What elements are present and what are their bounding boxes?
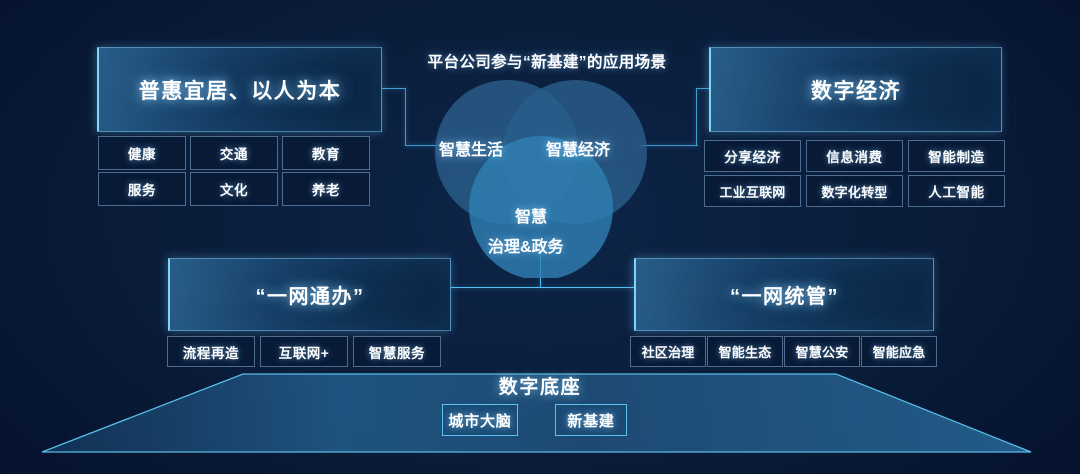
venn-label-smart-life: 智慧生活 xyxy=(439,136,503,160)
chip-right-mid-0[interactable]: 社区治理 xyxy=(630,336,706,367)
chip-left-top-1[interactable]: 交通 xyxy=(190,136,278,170)
chip-right-top-2[interactable]: 智能制造 xyxy=(908,140,1005,172)
chip-right-top-4[interactable]: 数字化转型 xyxy=(806,175,903,207)
chip-right-top-5[interactable]: 人工智能 xyxy=(908,175,1005,207)
chip-left-top-5[interactable]: 养老 xyxy=(282,172,370,206)
pillar-left-top-title: 普惠宜居、以人为本 xyxy=(139,75,342,105)
diagram-title: 平台公司参与“新基建”的应用场景 xyxy=(392,50,702,72)
pillar-right-mid-title: “一网统管” xyxy=(730,280,839,309)
chip-right-top-0[interactable]: 分享经济 xyxy=(704,140,801,172)
venn-diagram: 智慧生活 智慧经济 智慧 治理&政务 xyxy=(425,78,655,278)
chip-right-top-1[interactable]: 信息消费 xyxy=(806,140,903,172)
pillar-right-top-title: 数字经济 xyxy=(811,75,901,105)
chip-left-top-4[interactable]: 文化 xyxy=(190,172,278,206)
diagram-canvas: 平台公司参与“新基建”的应用场景 智慧生活 智慧经济 智慧 治理&政务 普惠宜居… xyxy=(0,0,1080,474)
connector-right-top-v xyxy=(696,88,697,146)
chip-left-top-0[interactable]: 健康 xyxy=(98,136,186,170)
pillar-left-top[interactable]: 普惠宜居、以人为本 xyxy=(97,47,382,132)
base-title: 数字底座 xyxy=(0,372,1080,399)
venn-label-smart-governance-line1: 智慧 xyxy=(515,203,547,227)
connector-mid-horizontal xyxy=(440,287,640,288)
chip-left-mid-2[interactable]: 智慧服务 xyxy=(353,336,441,367)
base-chip-0[interactable]: 城市大脑 xyxy=(442,404,518,436)
connector-left-top-v xyxy=(405,88,406,146)
chip-left-top-2[interactable]: 教育 xyxy=(282,136,370,170)
pillar-left-mid[interactable]: “一网通办” xyxy=(168,258,451,331)
venn-label-smart-governance-line2: 治理&政务 xyxy=(488,233,564,257)
chip-left-mid-0[interactable]: 流程再造 xyxy=(167,336,255,367)
pillar-right-mid[interactable]: “一网统管” xyxy=(634,258,934,331)
venn-label-smart-economy: 智慧经济 xyxy=(546,136,610,160)
chip-right-mid-1[interactable]: 智能生态 xyxy=(707,336,783,367)
chip-right-mid-2[interactable]: 智慧公安 xyxy=(784,336,860,367)
chip-left-top-3[interactable]: 服务 xyxy=(98,172,186,206)
chip-right-mid-3[interactable]: 智能应急 xyxy=(861,336,937,367)
connector-left-top-h1 xyxy=(382,88,406,89)
chip-right-top-3[interactable]: 工业互联网 xyxy=(704,175,801,207)
pillar-right-top[interactable]: 数字经济 xyxy=(709,47,1002,132)
pillar-left-mid-title: “一网通办” xyxy=(256,280,365,309)
chip-left-mid-1[interactable]: 互联网+ xyxy=(260,336,348,367)
base-chip-1[interactable]: 新基建 xyxy=(555,404,627,436)
